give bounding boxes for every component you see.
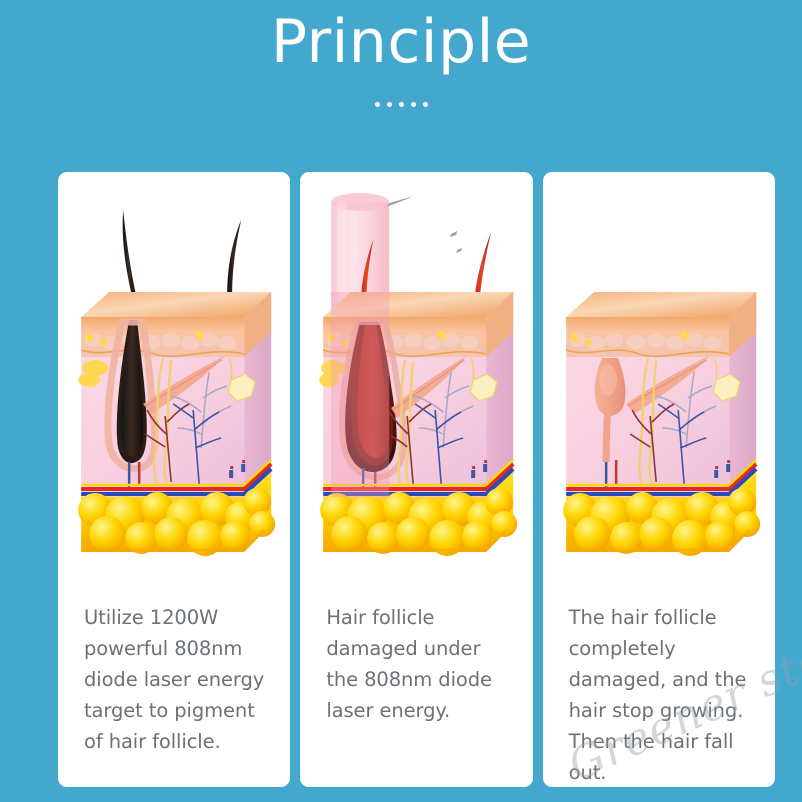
dot-4 <box>411 102 416 107</box>
skin-diagram-destroyed-follicle-icon <box>543 172 775 592</box>
card-2-caption: Hair follicle damaged under the 808nm di… <box>326 602 516 726</box>
dot-1 <box>375 102 380 107</box>
dot-2 <box>387 102 392 107</box>
principle-card-1[interactable]: Utilize 1200W powerful 808nm diode laser… <box>58 172 290 787</box>
dot-5 <box>423 102 428 107</box>
decorative-dots <box>0 102 802 107</box>
principle-card-2[interactable]: Hair follicle damaged under the 808nm di… <box>300 172 532 787</box>
page-title: Principle <box>0 6 802 78</box>
principle-card-row: Utilize 1200W powerful 808nm diode laser… <box>58 172 775 787</box>
dot-3 <box>399 102 404 107</box>
page-header: Principle <box>0 0 802 107</box>
card-1-caption: Utilize 1200W powerful 808nm diode laser… <box>84 602 274 757</box>
card-3-caption: The hair follicle completely damaged, an… <box>569 602 759 787</box>
skin-diagram-laser-damaging-follicle-icon <box>300 172 532 592</box>
skin-diagram-intact-follicle-icon <box>58 172 290 592</box>
principle-card-3[interactable]: The hair follicle completely damaged, an… <box>543 172 775 787</box>
